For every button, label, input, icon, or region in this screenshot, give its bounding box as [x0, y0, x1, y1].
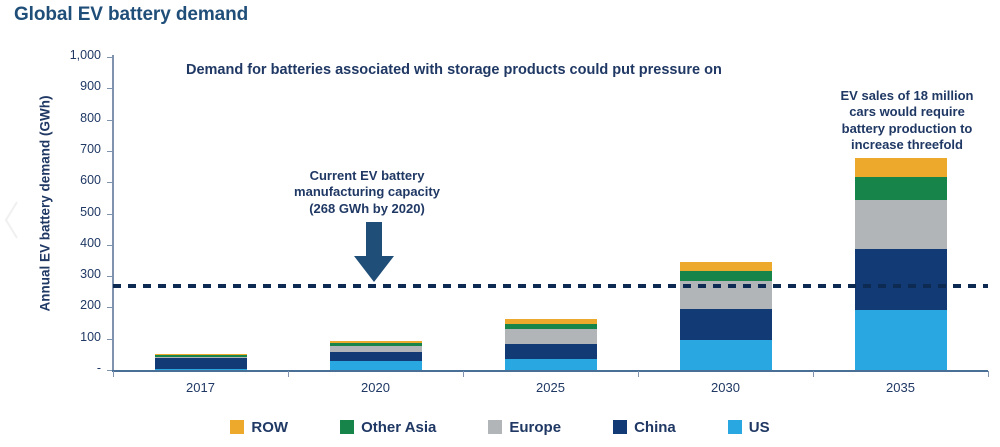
- x-tick-label-2035: 2035: [841, 380, 961, 395]
- legend-item-china[interactable]: China: [613, 419, 676, 436]
- bar-2017[interactable]: [155, 354, 247, 370]
- bar-segment-china[interactable]: [330, 352, 422, 361]
- legend-item-europe[interactable]: Europe: [488, 419, 561, 436]
- bar-segment-us[interactable]: [330, 361, 422, 370]
- bar-segment-us[interactable]: [155, 369, 247, 370]
- y-tick-text: 400: [47, 236, 101, 250]
- annotation-right: EV sales of 18 million cars would requir…: [818, 88, 996, 153]
- y-tick-text: 1,000: [47, 48, 101, 62]
- annotation-right-line2: cars would require: [818, 104, 996, 120]
- y-tick-text: 900: [47, 79, 101, 93]
- y-tick-label: 600: [47, 173, 103, 187]
- bar-2020[interactable]: [330, 341, 422, 370]
- annotation-capacity-line2: manufacturing capacity: [272, 184, 462, 200]
- y-tick-text: -: [47, 361, 101, 375]
- annotation-right-line1: EV sales of 18 million: [818, 88, 996, 104]
- y-axis-line: [112, 55, 114, 371]
- chart-plot-area: Annual EV battery demand (GWh) 1,0009008…: [0, 0, 1000, 400]
- y-tick-label: 900: [47, 79, 103, 93]
- annotation-capacity-line1: Current EV battery: [272, 168, 462, 184]
- slide-root: Global EV battery demand Annual EV batte…: [0, 0, 1000, 447]
- x-tick-mark: [813, 371, 814, 377]
- y-tick-label: 700: [47, 142, 103, 156]
- bar-segment-china[interactable]: [155, 358, 247, 369]
- legend-swatch-icon: [340, 420, 354, 434]
- bar-segment-other-asia[interactable]: [505, 324, 597, 329]
- annotation-right-line3: battery production to: [818, 121, 996, 137]
- x-tick-mark: [288, 371, 289, 377]
- legend-label: ROW: [251, 419, 288, 436]
- annotation-top: Demand for batteries associated with sto…: [186, 61, 722, 79]
- bar-segment-row[interactable]: [155, 354, 247, 356]
- y-tick-label: 300: [47, 267, 103, 281]
- bar-segment-other-asia[interactable]: [680, 271, 772, 281]
- y-tick-text: 800: [47, 111, 101, 125]
- bar-segment-us[interactable]: [680, 340, 772, 370]
- annotation-right-line4: increase threefold: [818, 137, 996, 153]
- bar-segment-other-asia[interactable]: [155, 355, 247, 356]
- legend-label: China: [634, 419, 676, 436]
- x-tick-mark: [638, 371, 639, 377]
- y-tick-text: 100: [47, 330, 101, 344]
- x-tick-label-2030: 2030: [666, 380, 786, 395]
- y-tick-label: 100: [47, 330, 103, 344]
- legend-item-other-asia[interactable]: Other Asia: [340, 419, 436, 436]
- legend-label: Other Asia: [361, 419, 436, 436]
- x-tick-mark: [988, 371, 989, 377]
- down-arrow-icon: [352, 222, 396, 284]
- bar-segment-europe[interactable]: [855, 200, 947, 249]
- bar-segment-us[interactable]: [505, 359, 597, 370]
- y-tick-label: 500: [47, 205, 103, 219]
- legend-label: Europe: [509, 419, 561, 436]
- bar-segment-europe[interactable]: [505, 329, 597, 344]
- y-tick-label: -: [47, 361, 103, 375]
- y-tick-label: 200: [47, 298, 103, 312]
- bar-2035[interactable]: [855, 158, 947, 370]
- x-tick-label-2020: 2020: [316, 380, 436, 395]
- legend-swatch-icon: [488, 420, 502, 434]
- bar-segment-china[interactable]: [680, 309, 772, 340]
- x-tick-mark: [113, 371, 114, 377]
- bar-segment-china[interactable]: [505, 344, 597, 359]
- bar-segment-china[interactable]: [855, 249, 947, 310]
- bar-2030[interactable]: [680, 262, 772, 370]
- x-tick-mark: [463, 371, 464, 377]
- bar-segment-other-asia[interactable]: [855, 177, 947, 200]
- bar-segment-row[interactable]: [855, 158, 947, 177]
- legend-item-row[interactable]: ROW: [230, 419, 288, 436]
- y-tick-text: 300: [47, 267, 101, 281]
- y-tick-label: 400: [47, 236, 103, 250]
- bar-segment-europe[interactable]: [330, 346, 422, 352]
- x-tick-label-2017: 2017: [141, 380, 261, 395]
- capacity-reference-line: [113, 284, 988, 288]
- y-tick-text: 200: [47, 298, 101, 312]
- legend-swatch-icon: [613, 420, 627, 434]
- legend-swatch-icon: [230, 420, 244, 434]
- y-tick-label: 800: [47, 111, 103, 125]
- legend-label: US: [749, 419, 770, 436]
- bar-segment-us[interactable]: [855, 310, 947, 370]
- annotation-capacity: Current EV battery manufacturing capacit…: [272, 168, 462, 217]
- chart-legend: ROWOther AsiaEuropeChinaUS: [0, 414, 1000, 440]
- y-tick-text: 600: [47, 173, 101, 187]
- bar-segment-row[interactable]: [330, 341, 422, 344]
- annotation-capacity-line3: (268 GWh by 2020): [272, 201, 462, 217]
- bar-segment-row[interactable]: [680, 262, 772, 271]
- x-tick-label-2025: 2025: [491, 380, 611, 395]
- bar-2025[interactable]: [505, 319, 597, 370]
- legend-swatch-icon: [728, 420, 742, 434]
- bar-segment-row[interactable]: [505, 319, 597, 324]
- y-tick-text: 500: [47, 205, 101, 219]
- y-tick-label: 1,000: [47, 48, 103, 62]
- y-tick-text: 700: [47, 142, 101, 156]
- legend-item-us[interactable]: US: [728, 419, 770, 436]
- bar-segment-europe[interactable]: [155, 357, 247, 359]
- bar-segment-other-asia[interactable]: [330, 343, 422, 346]
- x-axis-line: [112, 370, 988, 372]
